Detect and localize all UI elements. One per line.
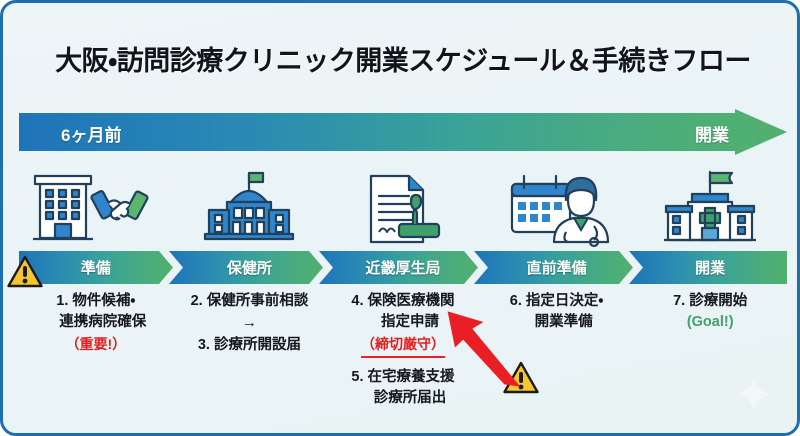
clinic-flag-icon: [650, 170, 770, 248]
step-line: 3. 診療所開設届: [176, 335, 324, 356]
step-note-deadline: （締切厳守）: [361, 334, 445, 358]
icon-cell-final-prep: [480, 166, 634, 248]
phase-icon-row: [19, 166, 787, 248]
warning-triangle-icon: [7, 255, 43, 289]
step-column-3: 4. 保険医療機関 指定申請 （締切厳守） 5. 在宅療養支援 診療所届出: [326, 291, 480, 410]
icon-cell-preparation: [19, 166, 173, 248]
step-flow-arrow: →: [176, 312, 324, 334]
phase-label-final-prep[interactable]: 直前準備: [480, 251, 634, 284]
step-line: 指定申請: [329, 312, 477, 333]
building-handshake-icon: [26, 170, 166, 248]
phase-label-bureau[interactable]: 近畿厚生局: [326, 251, 480, 284]
timeline-end-label: 開業: [695, 121, 729, 146]
government-building-icon: [189, 170, 309, 248]
step-spacer: [329, 358, 477, 367]
warning-badge-middle: [503, 361, 539, 395]
document-stamp-icon: [343, 170, 463, 248]
phase-label-opening[interactable]: 開業: [633, 251, 787, 284]
phase-label-row: 準備 保健所 近畿厚生局 直前準備 開業: [19, 251, 787, 284]
timeline-start-label: 6ヶ月前: [61, 121, 121, 146]
step-line: 4. 保険医療機関: [329, 291, 477, 312]
step-line: 1. 物件候補・: [22, 291, 170, 312]
step-note-deadline-wrap: （締切厳守）: [329, 334, 477, 358]
warning-triangle-icon: [503, 361, 539, 395]
step-line: 6. 指定日決定・: [483, 291, 631, 312]
step-text-row: 1. 物件候補・ 連携病院確保 （重要!） 2. 保健所事前相談 → 3. 診療…: [19, 291, 787, 410]
icon-cell-health-center: [173, 166, 327, 248]
step-column-5: 7. 診療開始 (Goal!): [633, 291, 787, 410]
timeline-arrow: 6ヶ月前 開業: [19, 109, 787, 155]
step-line: 7. 診療開始: [636, 291, 784, 312]
phase-label-health-center[interactable]: 保健所: [173, 251, 327, 284]
calendar-doctor-icon: [492, 170, 622, 248]
icon-cell-bureau: [326, 166, 480, 248]
step-line: 開業準備: [483, 312, 631, 333]
infographic-canvas: 大阪・訪問診療クリニック開業スケジュール＆手続きフロー 6ヶ月前 開業: [0, 0, 800, 436]
page-title: 大阪・訪問診療クリニック開業スケジュール＆手続きフロー: [3, 39, 800, 78]
step-line: 診療所届出: [329, 388, 477, 409]
step-line: 連携病院確保: [22, 312, 170, 333]
warning-badge-left: [7, 255, 43, 289]
step-column-2: 2. 保健所事前相談 → 3. 診療所開設届: [173, 291, 327, 410]
step-note-goal: (Goal!): [636, 312, 784, 334]
step-line: 5. 在宅療養支援: [329, 367, 477, 388]
phase-chevron-band: 準備 保健所 近畿厚生局 直前準備 開業: [19, 251, 787, 284]
step-column-1: 1. 物件候補・ 連携病院確保 （重要!）: [19, 291, 173, 410]
icon-cell-opening: [633, 166, 787, 248]
step-note-important: （重要!）: [22, 334, 170, 355]
timeline-arrow-shape: [19, 109, 787, 155]
step-line: 2. 保健所事前相談: [176, 291, 324, 312]
handshake-glyph: [90, 190, 148, 220]
